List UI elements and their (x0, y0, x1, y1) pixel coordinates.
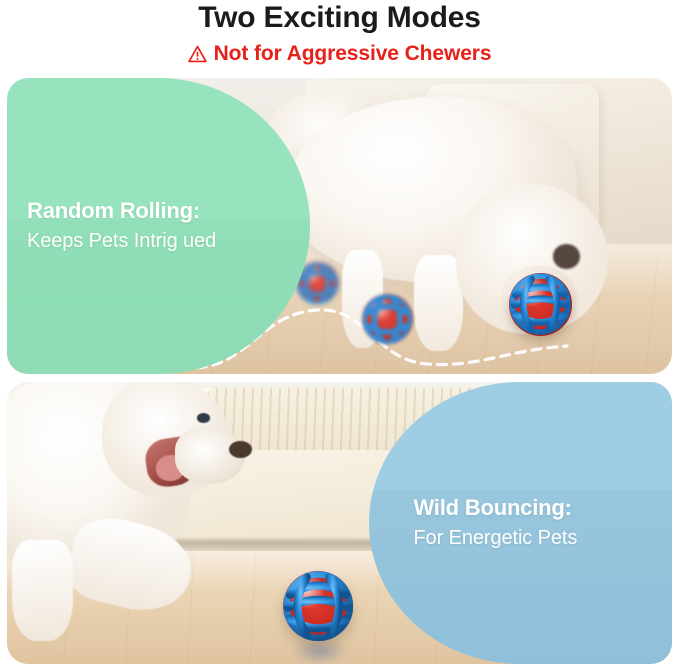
toy-ball-near (283, 571, 353, 642)
ball-cage (283, 571, 353, 642)
warning-text: Not for Aggressive Chewers (214, 41, 492, 67)
dog-samoyed (286, 81, 632, 353)
panel-random-rolling: Random Rolling: Keeps Pets Intrig ued (7, 78, 672, 374)
header: Two Exciting Modes Not for Aggressive Ch… (0, 0, 679, 76)
callout-title: Random Rolling: (27, 196, 310, 226)
ball-cage (509, 273, 572, 335)
warning-triangle-icon (188, 45, 207, 63)
dog-samoyed (7, 382, 300, 658)
toy-ball-near (509, 273, 572, 335)
page-title: Two Exciting Modes (0, 1, 679, 35)
dog-nose (553, 244, 581, 269)
callout-title: Wild Bouncing: (413, 493, 672, 523)
panel-wild-bouncing: Wild Bouncing: For Energetic Pets (7, 382, 672, 664)
callout-subtitle: Keeps Pets Intrig ued (27, 226, 310, 256)
dog-standing-paw (12, 540, 73, 642)
callout-random-rolling: Random Rolling: Keeps Pets Intrig ued (7, 78, 310, 374)
warning-row: Not for Aggressive Chewers (0, 41, 679, 67)
dog-nose (229, 441, 251, 458)
callout-subtitle: For Energetic Pets (413, 523, 672, 553)
ball-cage (362, 294, 413, 344)
callout-wild-bouncing: Wild Bouncing: For Energetic Pets (369, 382, 672, 664)
toy-ball-mid (362, 294, 413, 344)
dog-eye (197, 413, 210, 423)
